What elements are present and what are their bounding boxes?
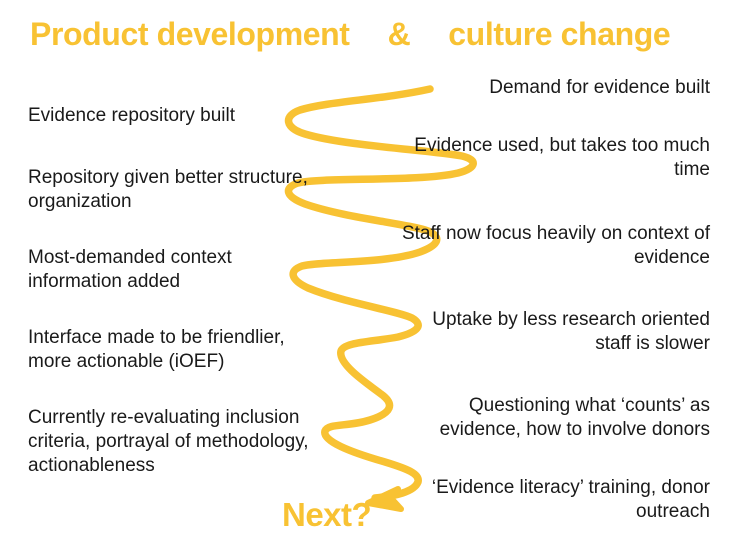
slide-canvas: Product development & culture change Evi… bbox=[0, 0, 740, 558]
title-segment-culture-change: culture change bbox=[448, 18, 670, 50]
list-item: Most-demanded context information added bbox=[28, 246, 328, 294]
next-question-label: Next? bbox=[282, 498, 371, 531]
title-segment-product-development: Product development bbox=[30, 18, 350, 50]
list-item: Evidence repository built bbox=[28, 104, 328, 128]
list-item: ‘Evidence literacy’ training, donor outr… bbox=[398, 476, 710, 524]
list-item: Interface made to be friendlier, more ac… bbox=[28, 326, 328, 374]
page-title: Product development & culture change bbox=[30, 18, 720, 60]
arrowhead-icon bbox=[368, 489, 401, 509]
list-item: Demand for evidence built bbox=[398, 76, 710, 100]
list-item: Repository given better structure, organ… bbox=[28, 166, 328, 214]
title-segment-ampersand: & bbox=[388, 18, 411, 50]
list-item: Questioning what ‘counts’ as evidence, h… bbox=[398, 394, 710, 442]
list-item: Uptake by less research oriented staff i… bbox=[398, 308, 710, 356]
list-item: Currently re-evaluating inclusion criter… bbox=[28, 406, 328, 478]
list-item: Staff now focus heavily on context of ev… bbox=[398, 222, 710, 270]
list-item: Evidence used, but takes too much time bbox=[398, 134, 710, 182]
